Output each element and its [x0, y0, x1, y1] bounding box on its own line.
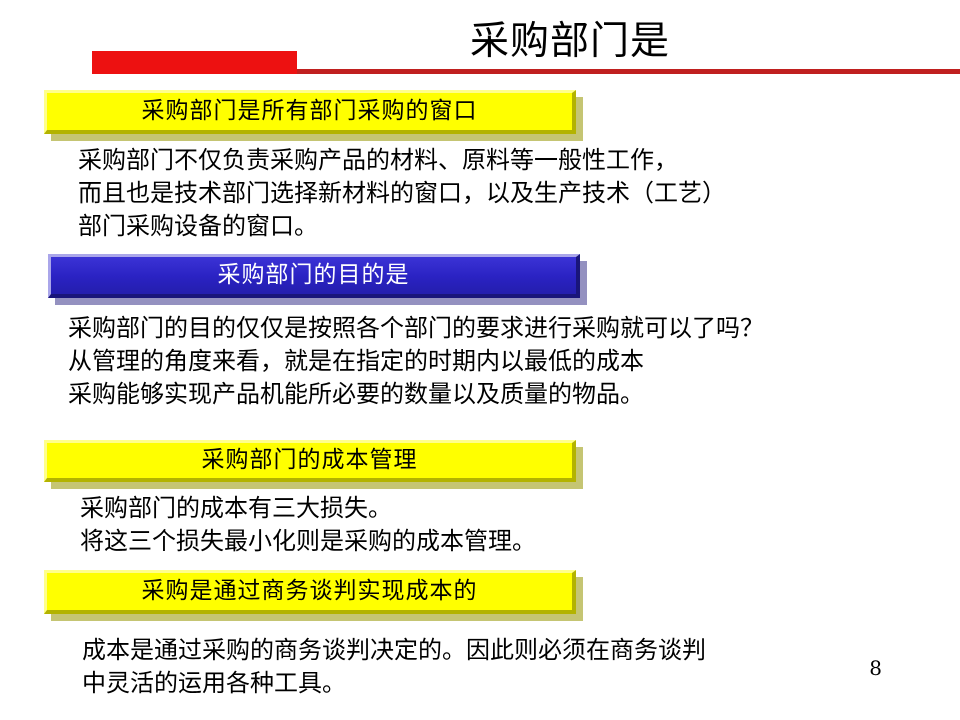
section-banner-2-label: 采购部门的目的是 — [51, 257, 576, 294]
section-body-4: 成本是通过采购的商务谈判决定的。因此则必须在商务谈判 中灵活的运用各种工具。 — [82, 634, 960, 700]
section-banner-4-label: 采购是通过商务谈判实现成本的 — [47, 573, 572, 610]
section-banner-1-label: 采购部门是所有部门采购的窗口 — [47, 93, 572, 130]
slide-canvas: 采购部门是 采购部门是所有部门采购的窗口 采购部门不仅负责采购产品的材料、原料等… — [0, 0, 960, 720]
section-banner-1[interactable]: 采购部门是所有部门采购的窗口 — [44, 90, 576, 134]
section-banner-2[interactable]: 采购部门的目的是 — [48, 254, 580, 298]
page-title: 采购部门是 — [300, 18, 840, 66]
section-body-3: 采购部门的成本有三大损失。 将这三个损失最小化则是采购的成本管理。 — [80, 492, 960, 558]
header-accent-block — [92, 51, 297, 74]
section-banner-4[interactable]: 采购是通过商务谈判实现成本的 — [44, 570, 576, 614]
section-body-2: 采购部门的目的仅仅是按照各个部门的要求进行采购就可以了吗？ 从管理的角度来看，就… — [68, 312, 958, 411]
section-body-1: 采购部门不仅负责采购产品的材料、原料等一般性工作， 而且也是技术部门选择新材料的… — [78, 144, 958, 243]
section-banner-3-label: 采购部门的成本管理 — [47, 443, 572, 478]
header-rule — [296, 69, 960, 74]
page-number: 8 — [869, 658, 882, 678]
section-banner-3[interactable]: 采购部门的成本管理 — [44, 440, 576, 482]
